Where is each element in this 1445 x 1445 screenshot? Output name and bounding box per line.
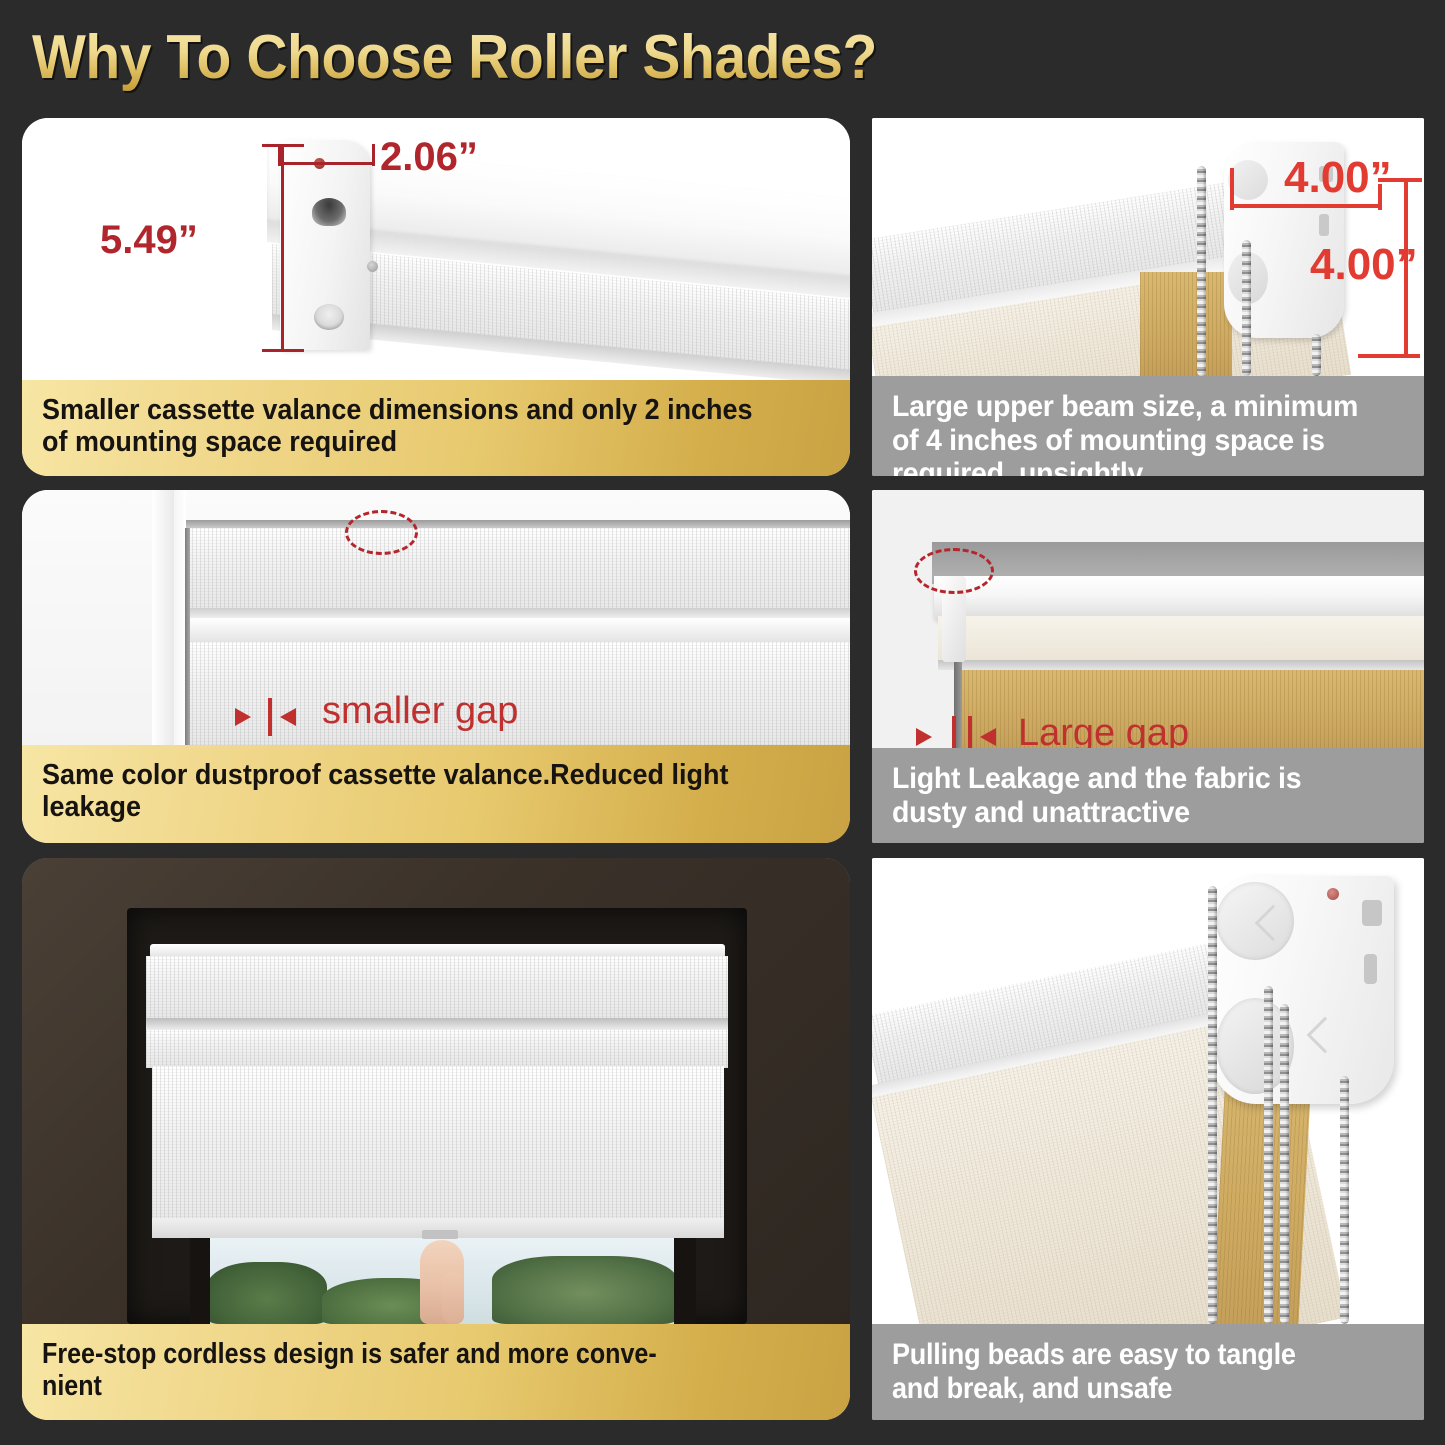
bead-chain [1280,1004,1289,1324]
height-dimension-label: 5.49” [100,218,198,263]
beam-width-tick-left [1230,168,1234,210]
panel-dustproof-valance: smaller gap Same color dustproof cassett… [22,490,850,843]
panel-3-caption-text: Same color dustproof cassette valance.Re… [42,759,777,824]
width-dimension-tick-right [372,144,375,166]
beam-height-label: 4.00” [1310,240,1418,290]
header-bar: Why To Choose Roller Shades? [0,0,1445,112]
panel-5-caption: Free-stop cordless design is safer and m… [22,1324,850,1420]
panel-6-photo [872,858,1424,1324]
bead-chain [1340,1076,1349,1324]
panel-6-caption-text: Pulling beads are easy to tangle and bre… [892,1338,1317,1405]
beam-height-tick-bottom [1358,354,1420,358]
width-dimension-line [280,162,374,165]
panel-3-photo: smaller gap [22,490,850,745]
panel-smaller-cassette: 2.06” 5.49” Smaller cassette valance dim… [22,118,850,476]
panel-4-caption: Light Leakage and the fabric is dusty an… [872,748,1424,843]
panel-6-caption: Pulling beads are easy to tangle and bre… [872,1324,1424,1420]
panel-4-caption-text: Light Leakage and the fabric is dusty an… [892,762,1380,829]
gap-arrow-left [235,708,251,726]
bead-chain [1264,986,1273,1324]
gap-tick [268,698,272,736]
panel-5-caption-text: Free-stop cordless design is safer and m… [42,1338,703,1403]
large-gap-label: Large gap [1018,712,1189,748]
gap-arrow-right [280,708,296,726]
beam-width-label: 4.00” [1284,153,1392,203]
panel-1-caption: Smaller cassette valance dimensions and … [22,380,850,476]
height-dimension-tick-bottom [262,349,304,352]
panel-cordless-design: Free-stop cordless design is safer and m… [22,858,850,1420]
panel-1-caption-text: Smaller cassette valance dimensions and … [42,394,777,459]
height-dimension-tick-top [262,144,304,147]
panel-5-caption-line2: nient [42,1370,657,1402]
panel-pulling-beads: Pulling beads are easy to tangle and bre… [872,858,1424,1420]
bead-chain [1242,240,1251,376]
panel-1-photo: 2.06” 5.49” [22,118,850,380]
bead-chain [1312,334,1321,376]
gap-arrow-right [980,728,996,746]
panel-5-caption-line1: Free-stop cordless design is safer and m… [42,1338,657,1370]
gap-tick-left [952,716,956,748]
panel-5-photo [22,858,850,1324]
beam-width-line [1232,204,1382,208]
panel-large-beam: 4.00” 4.00” Large upper beam size, a min… [872,118,1424,476]
panel-light-leakage: Large gap Light Leakage and the fabric i… [872,490,1424,843]
smaller-gap-label: smaller gap [322,690,518,733]
panel-2-photo: 4.00” 4.00” [872,118,1424,376]
panel-6-caption-line2: and break, and unsafe [892,1372,1296,1406]
bead-chain [1197,166,1206,376]
height-dimension-line [281,146,284,352]
width-dimension-label: 2.06” [380,135,478,180]
highlight-ellipse [345,510,418,555]
panel-6-caption-line1: Pulling beads are easy to tangle [892,1338,1296,1372]
panel-4-photo: Large gap [872,490,1424,748]
gap-tick-right [968,716,972,748]
page-title: Why To Choose Roller Shades? [32,22,877,93]
gap-arrow-left [916,728,932,746]
panel-2-caption-text: Large upper beam size, a minimum of 4 in… [892,390,1380,476]
bead-chain [1208,886,1217,1324]
panel-3-caption: Same color dustproof cassette valance.Re… [22,745,850,843]
beam-height-tick-top [1378,178,1422,182]
panel-2-caption: Large upper beam size, a minimum of 4 in… [872,376,1424,476]
highlight-ellipse [914,548,994,594]
